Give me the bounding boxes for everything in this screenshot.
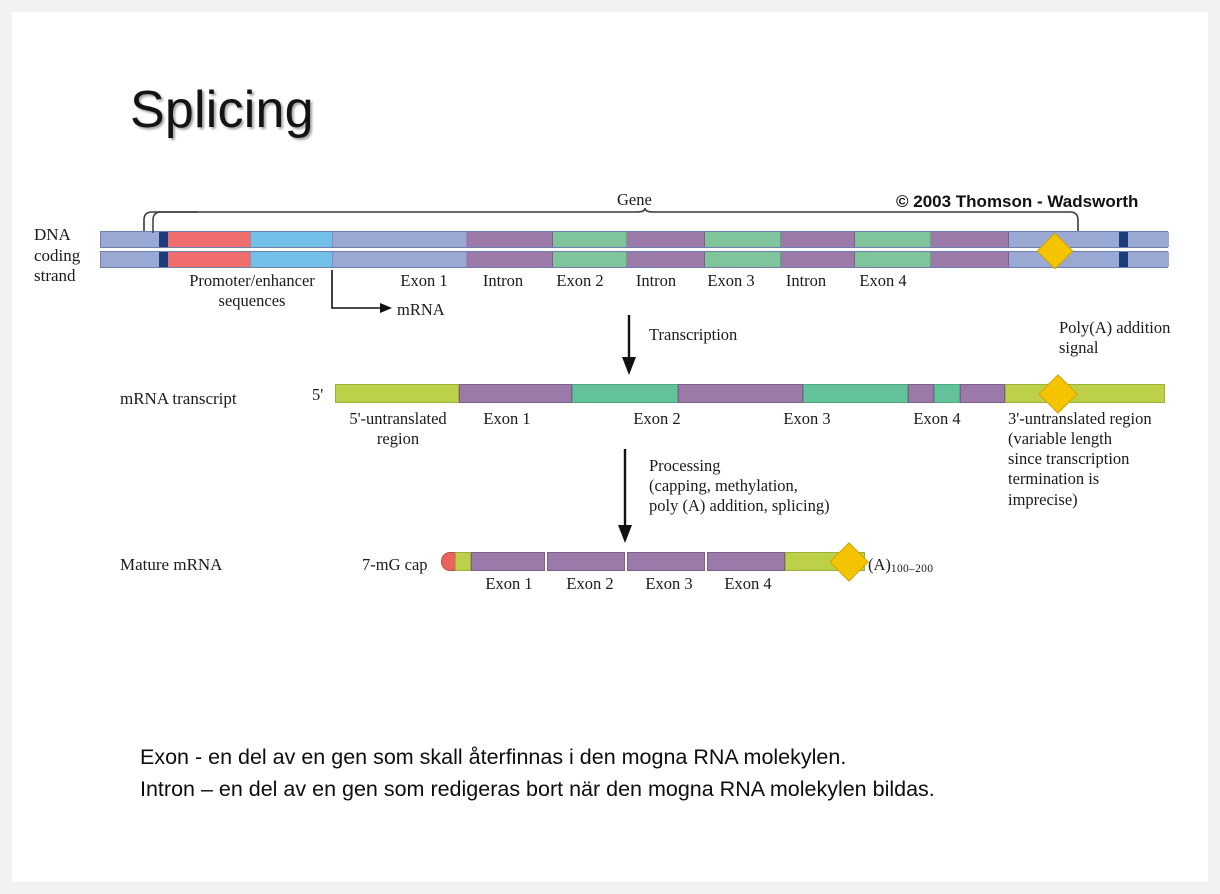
dna-label-intron-3: Intron [767, 271, 845, 290]
cap-label: 7-mG cap [362, 555, 428, 574]
mrna-seg-exon-4 [960, 384, 1005, 403]
mrna-seg-utr3 [1005, 384, 1165, 403]
utr5-label: 5'-untranslated region [337, 409, 459, 449]
mrna-direction-arrow [330, 270, 400, 315]
dna-seg-exon-4 [931, 232, 1009, 247]
dna-seg-5flank [333, 232, 467, 247]
definition-notes: Exon - en del av en gen som skall återfi… [140, 742, 935, 805]
dna-seg-downstream [1128, 232, 1169, 247]
dna-seg-tss [159, 232, 168, 247]
mrna-arrow-label: mRNA [397, 300, 445, 319]
dna-seg2-intron-1 [553, 252, 627, 267]
polya-tail-label: (A)100–200 [868, 555, 933, 577]
mrna-transcript-label: mRNA transcript [120, 389, 237, 409]
mrna-seg-exon-1 [459, 384, 572, 403]
dna-seg2-exon-2 [627, 252, 705, 267]
dna-seg2-termination [1119, 252, 1128, 267]
mrna-seg-intron-1 [572, 384, 678, 403]
dna-seg-termination [1119, 232, 1128, 247]
utr3-label: 3'-untranslated region (variable length … [1008, 409, 1152, 510]
mrna-label-exon-4: Exon 4 [897, 409, 977, 428]
processing-arrow [616, 449, 640, 545]
dna-seg2-intron-2 [705, 252, 781, 267]
dna-seg-exon-3 [781, 232, 855, 247]
transcription-arrow [620, 315, 644, 377]
dna-seg-promoter [168, 232, 251, 247]
dna-seg2-exon-3 [781, 252, 855, 267]
dna-label-exon-3: Exon 3 [693, 271, 769, 290]
polya-tail-diamond [829, 542, 869, 582]
note-intron-line: Intron – en del av en gen som redigeras … [140, 777, 935, 801]
transcription-label: Transcription [649, 325, 737, 344]
dna-seg-intron-1 [553, 232, 627, 247]
mature-seg-exon-1 [471, 552, 545, 571]
promoter-enhancer-label: Promoter/enhancer sequences [152, 271, 352, 311]
mrna-seg-intron-2 [803, 384, 908, 403]
dna-seg-upstream [101, 232, 159, 247]
dna-coding-strand-label: DNA coding strand [34, 225, 80, 287]
dna-strand-bottom [100, 251, 1168, 268]
note-exon-line: Exon - en del av en gen som skall återfi… [140, 745, 846, 769]
dna-label-exon-2: Exon 2 [541, 271, 619, 290]
processing-label: Processing (capping, methylation, poly (… [649, 456, 830, 516]
polya-addition-signal-label: Poly(A) addition signal [1059, 318, 1170, 358]
dna-strand-top [100, 231, 1168, 248]
mrna-label-exon-2: Exon 2 [617, 409, 697, 428]
mature-seg-exon-3 [627, 552, 705, 571]
slide-canvas: Splicing © 2003 Thomson - Wadsworth Gene… [12, 12, 1208, 882]
mature-label-exon-4: Exon 4 [709, 574, 787, 593]
mrna-seg-exon-3 [908, 384, 934, 403]
dna-label-exon-4: Exon 4 [843, 271, 923, 290]
mature-label-exon-3: Exon 3 [630, 574, 708, 593]
dna-seg2-tss [159, 252, 168, 267]
mrna-seg-exon-2 [678, 384, 803, 403]
dna-seg-exon-1 [467, 232, 553, 247]
polya-tail-subscript: 100–200 [891, 563, 933, 575]
dna-seg2-downstream [1128, 252, 1169, 267]
dna-seg-exon-2 [627, 232, 705, 247]
mature-seg-utr5 [455, 552, 471, 571]
dna-seg2-exon-1 [467, 252, 553, 267]
dna-label-intron-1: Intron [465, 271, 541, 290]
mature-label-exon-1: Exon 1 [471, 574, 547, 593]
mature-seg-exon-4 [707, 552, 785, 571]
dna-label-intron-2: Intron [617, 271, 695, 290]
five-prime-label: 5' [312, 385, 323, 404]
dna-seg2-5flank [333, 252, 467, 267]
mature-mrna-bar [455, 552, 865, 571]
mrna-seg-intron-3 [934, 384, 960, 403]
tss-leader-line [152, 210, 202, 234]
dna-seg2-exon-4 [931, 252, 1009, 267]
mrna-label-exon-1: Exon 1 [467, 409, 547, 428]
dna-seg-intron-3 [855, 232, 931, 247]
mrna-seg-utr5 [335, 384, 459, 403]
polya-signal-diamond-mrna [1038, 374, 1078, 414]
mature-seg-exon-2 [547, 552, 625, 571]
dna-seg2-intron-3 [855, 252, 931, 267]
dna-seg-enhancer [251, 232, 333, 247]
dna-seg2-promoter [168, 252, 251, 267]
mature-mrna-label: Mature mRNA [120, 555, 222, 575]
polya-tail-text: (A) [868, 555, 891, 574]
dna-seg-intron-2 [705, 232, 781, 247]
gene-bracket-label: Gene [617, 190, 652, 209]
mrna-label-exon-3: Exon 3 [767, 409, 847, 428]
dna-seg2-upstream [101, 252, 159, 267]
dna-seg2-enhancer [251, 252, 333, 267]
mature-label-exon-2: Exon 2 [551, 574, 629, 593]
